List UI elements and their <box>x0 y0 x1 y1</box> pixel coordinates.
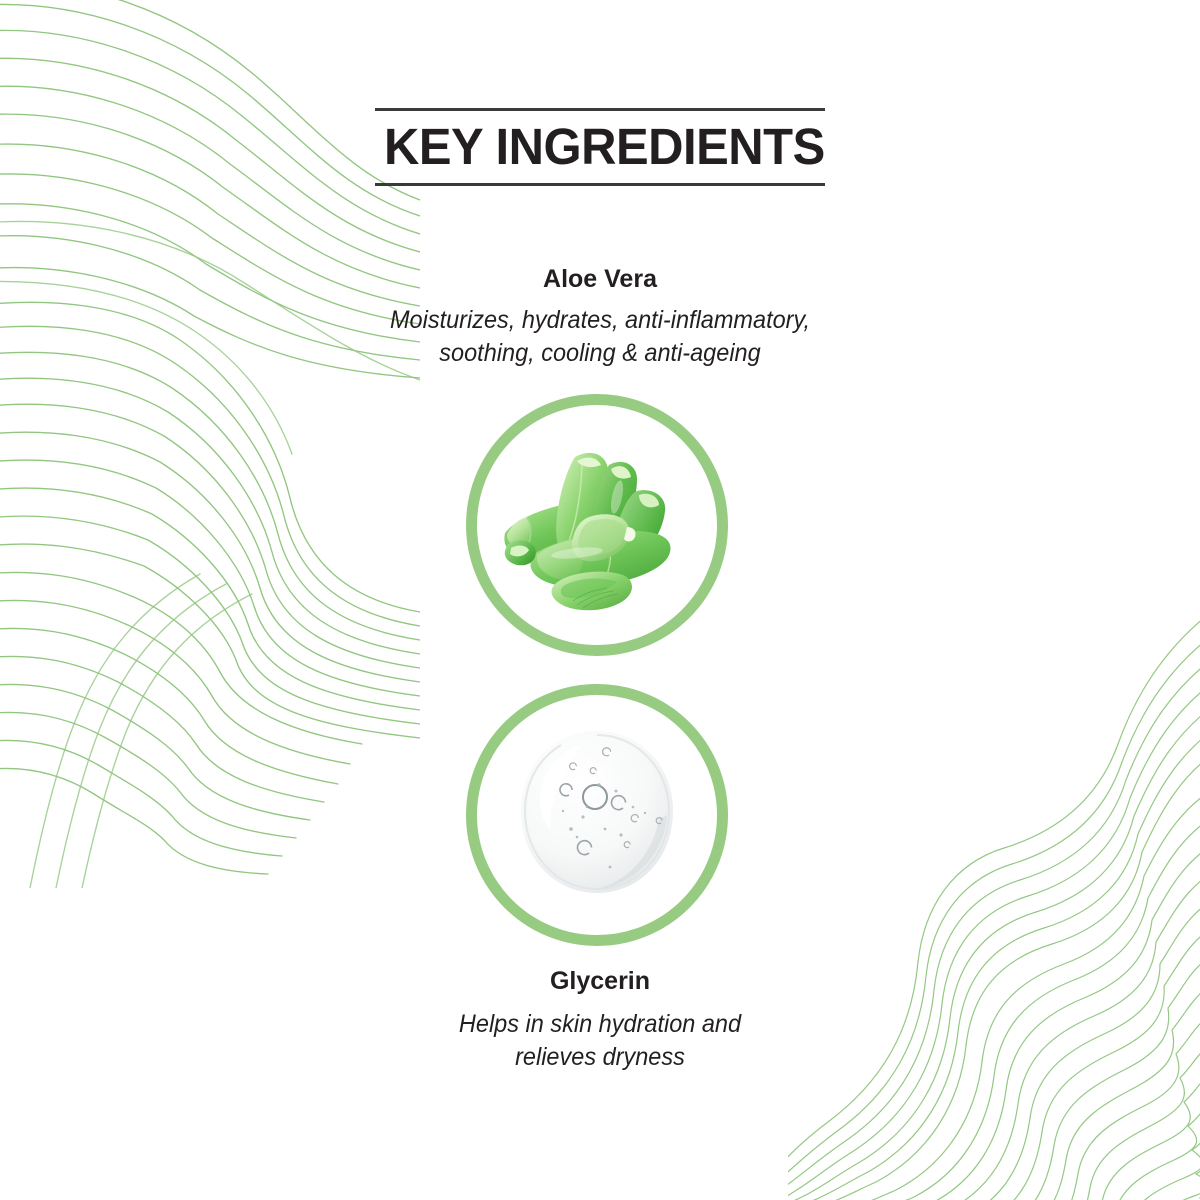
decorative-wave-lines-top-left <box>0 0 420 888</box>
ingredient-image-glycerin <box>466 684 728 946</box>
ingredients-card: KEY INGREDIENTS Aloe Vera Moisturizes, h… <box>0 0 1200 1200</box>
title-block: KEY INGREDIENTS <box>375 108 825 186</box>
ingredient-name-glycerin: Glycerin <box>0 966 1200 996</box>
title-rule-top <box>375 108 825 111</box>
page-title: KEY INGREDIENTS <box>384 115 816 179</box>
ingredient-image-aloe-vera <box>466 394 728 656</box>
ingredient-description-aloe-vera: Moisturizes, hydrates, anti-inflammatory… <box>36 304 1164 370</box>
ingredient-name-aloe-vera: Aloe Vera <box>0 264 1200 294</box>
ingredient-description-line: Helps in skin hydration and <box>36 1008 1164 1041</box>
aloe-vera-slices-photo <box>477 405 717 645</box>
title-rule-bottom <box>375 183 825 186</box>
ingredient-description-line: relieves dryness <box>36 1041 1164 1074</box>
ingredient-description-line: soothing, cooling & anti-ageing <box>36 337 1164 370</box>
ingredient-description-glycerin: Helps in skin hydration and relieves dry… <box>36 1008 1164 1074</box>
glycerin-gel-droplet-photo <box>477 695 717 935</box>
ingredient-description-line: Moisturizes, hydrates, anti-inflammatory… <box>36 304 1164 337</box>
decorative-wave-lines-bottom-right <box>788 610 1200 1200</box>
